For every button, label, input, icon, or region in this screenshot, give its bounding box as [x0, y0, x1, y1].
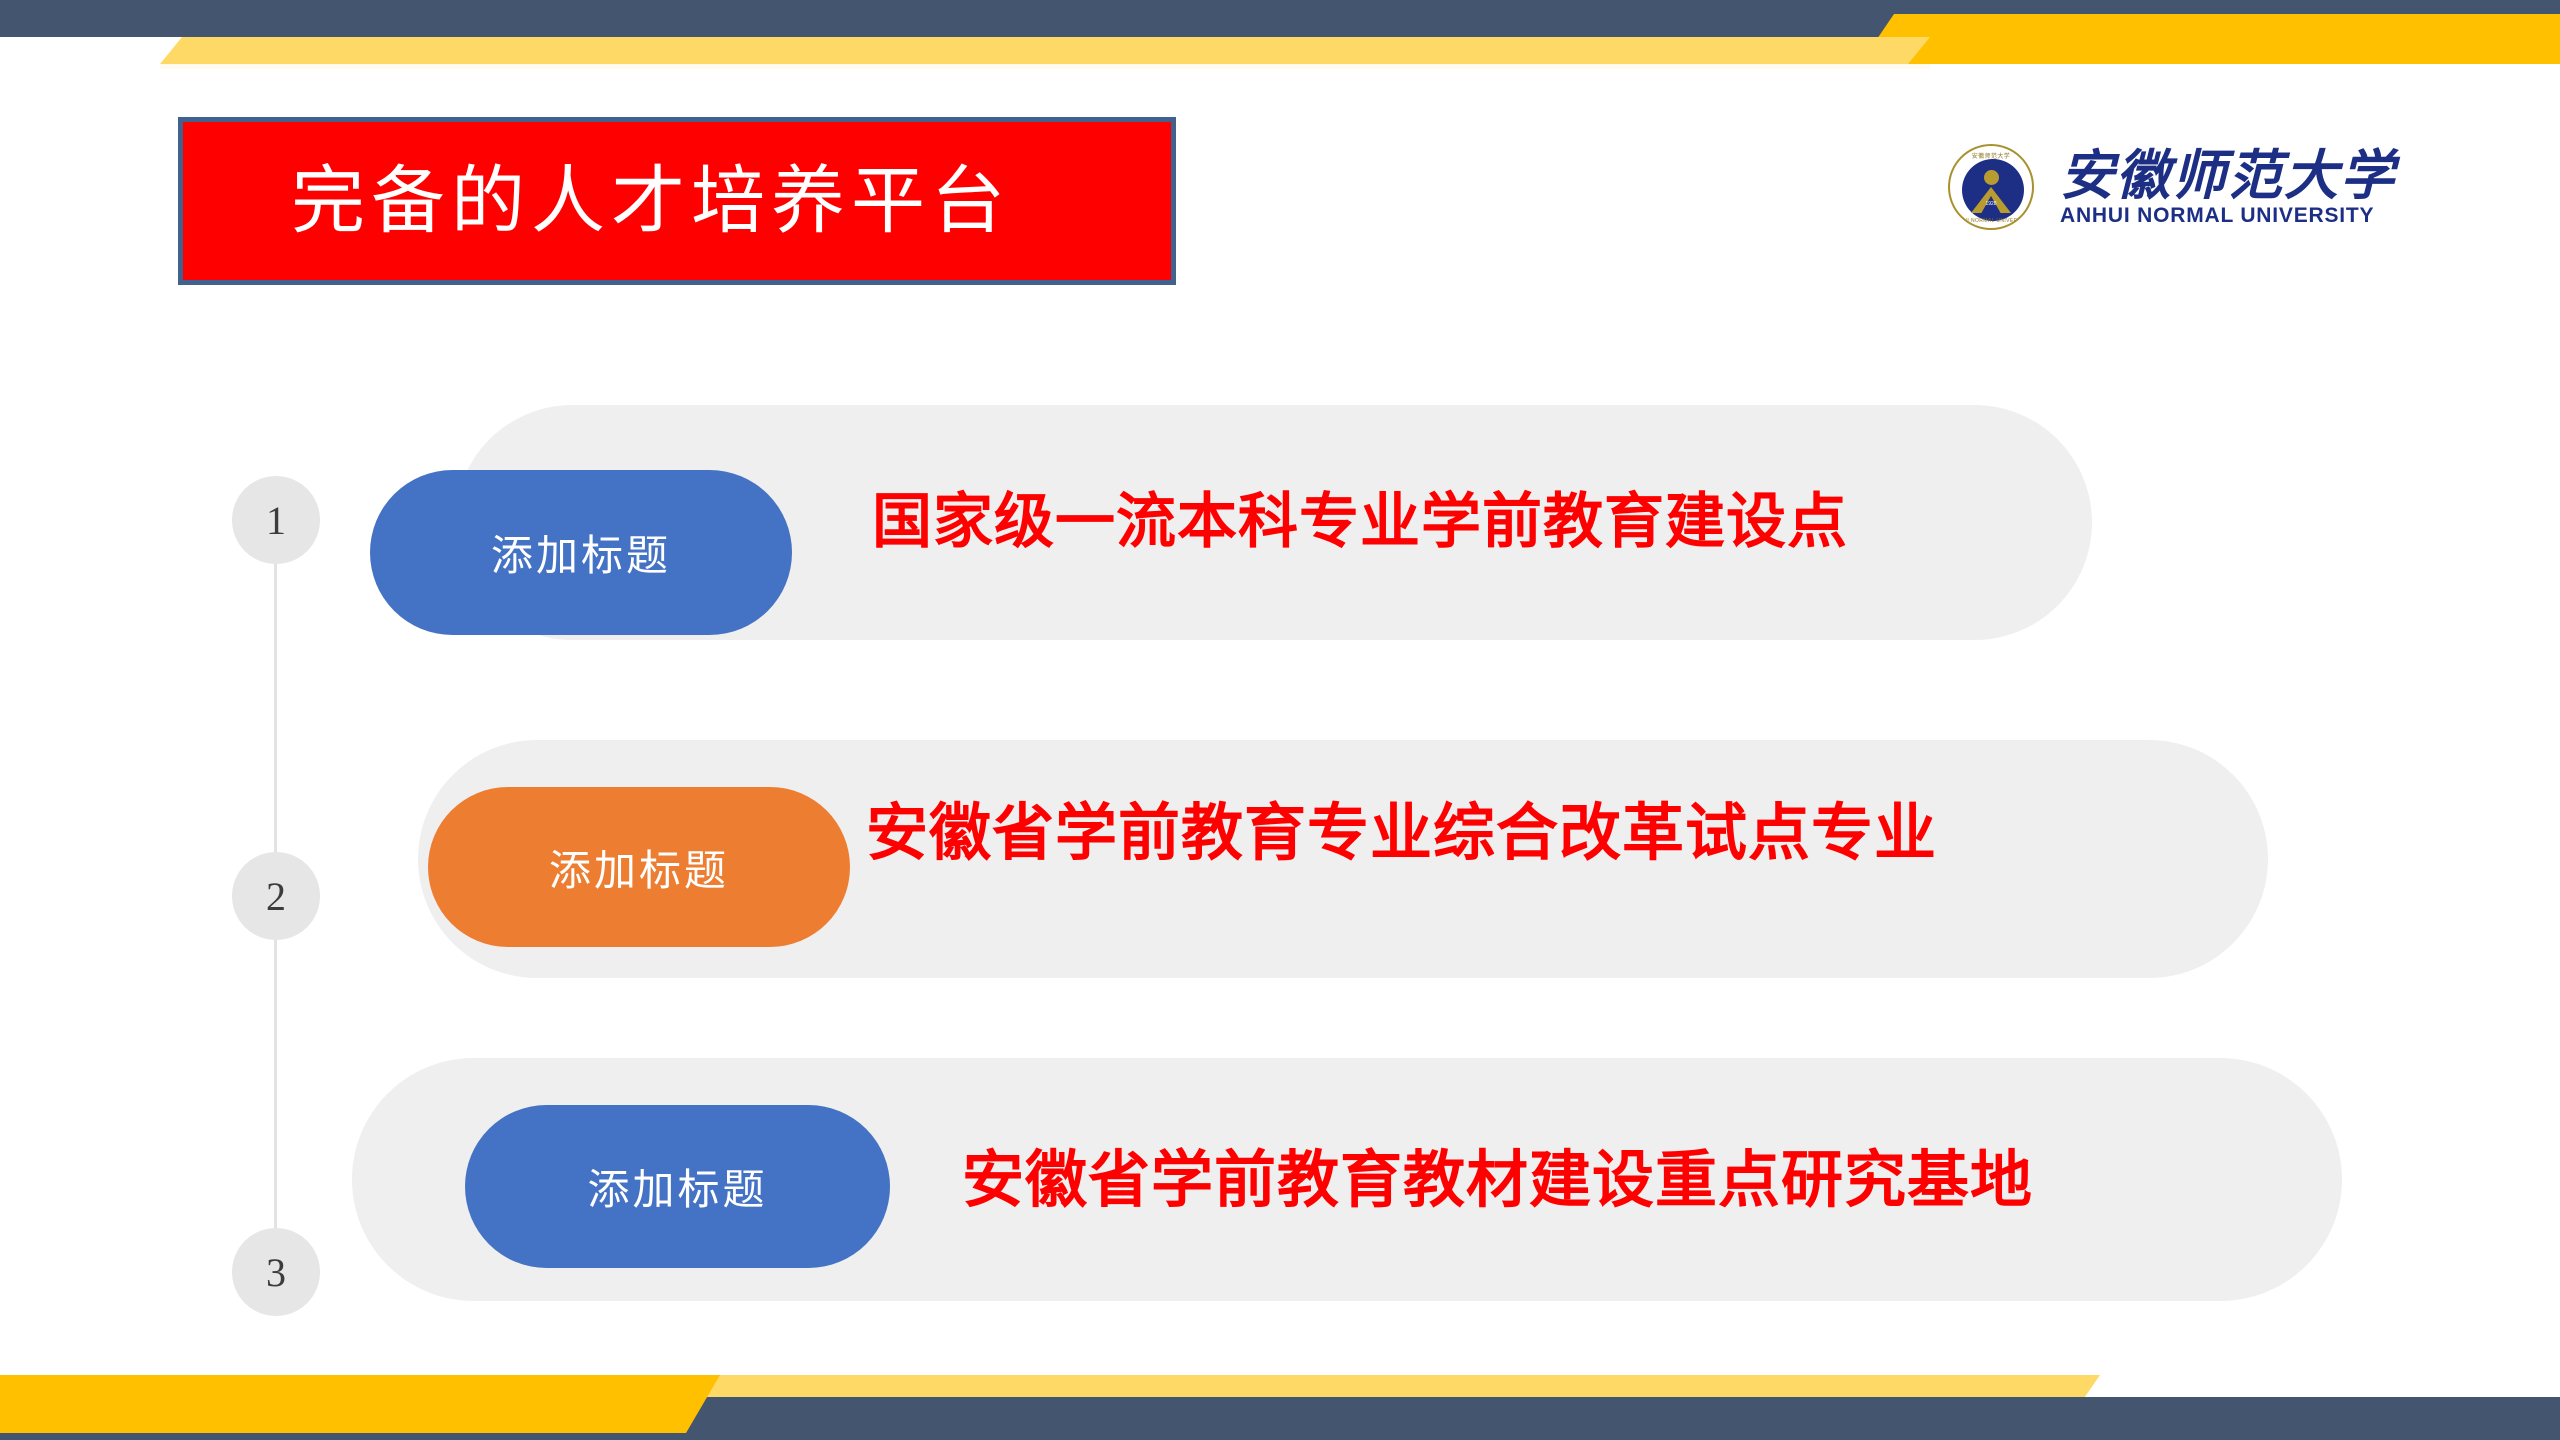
slide-title-box: 完备的人才培养平台	[178, 117, 1176, 285]
slide-canvas: 完备的人才培养平台 安徽师范大学 1928 ANHUI NORMAL UNIVE…	[0, 0, 2560, 1440]
top-stripe-shadow	[160, 64, 1930, 69]
university-emblem-icon: 安徽师范大学 1928 ANHUI NORMAL UNIVERSITY	[1948, 144, 2034, 230]
logo-wordmark: 安徽师范大学 ANHUI NORMAL UNIVERSITY	[2060, 149, 2396, 226]
university-name-cn: 安徽师范大学	[2060, 149, 2396, 203]
list-item-pill-1[interactable]: 添加标题	[370, 470, 792, 635]
top-yellow-stripe	[160, 37, 1930, 64]
list-item-caption-3: 安徽省学前教育教材建设重点研究基地	[962, 1150, 2033, 1212]
list-item-pill-3[interactable]: 添加标题	[465, 1105, 890, 1268]
step-number-2: 2	[232, 852, 320, 940]
step-number-3: 3	[232, 1228, 320, 1316]
emblem-figure-head	[1984, 170, 1999, 185]
bottom-gold-accent-shape	[0, 1375, 720, 1433]
list-item-pill-2[interactable]: 添加标题	[428, 787, 850, 947]
list-item-caption-1: 国家级一流本科专业学前教育建设点	[872, 492, 1848, 552]
page-title: 完备的人才培养平台	[291, 164, 1011, 238]
emblem-founding-year: 1928	[1950, 201, 2032, 207]
university-logo: 安徽师范大学 1928 ANHUI NORMAL UNIVERSITY 安徽师范…	[1948, 143, 2468, 231]
emblem-ring-text-bottom: ANHUI NORMAL UNIVERSITY	[1950, 218, 2032, 224]
list-item-caption-2: 安徽省学前教育专业综合改革试点专业	[866, 803, 1937, 865]
step-number-1: 1	[232, 476, 320, 564]
top-gold-accent-shape	[1860, 14, 2560, 64]
university-name-en: ANHUI NORMAL UNIVERSITY	[2060, 205, 2396, 226]
